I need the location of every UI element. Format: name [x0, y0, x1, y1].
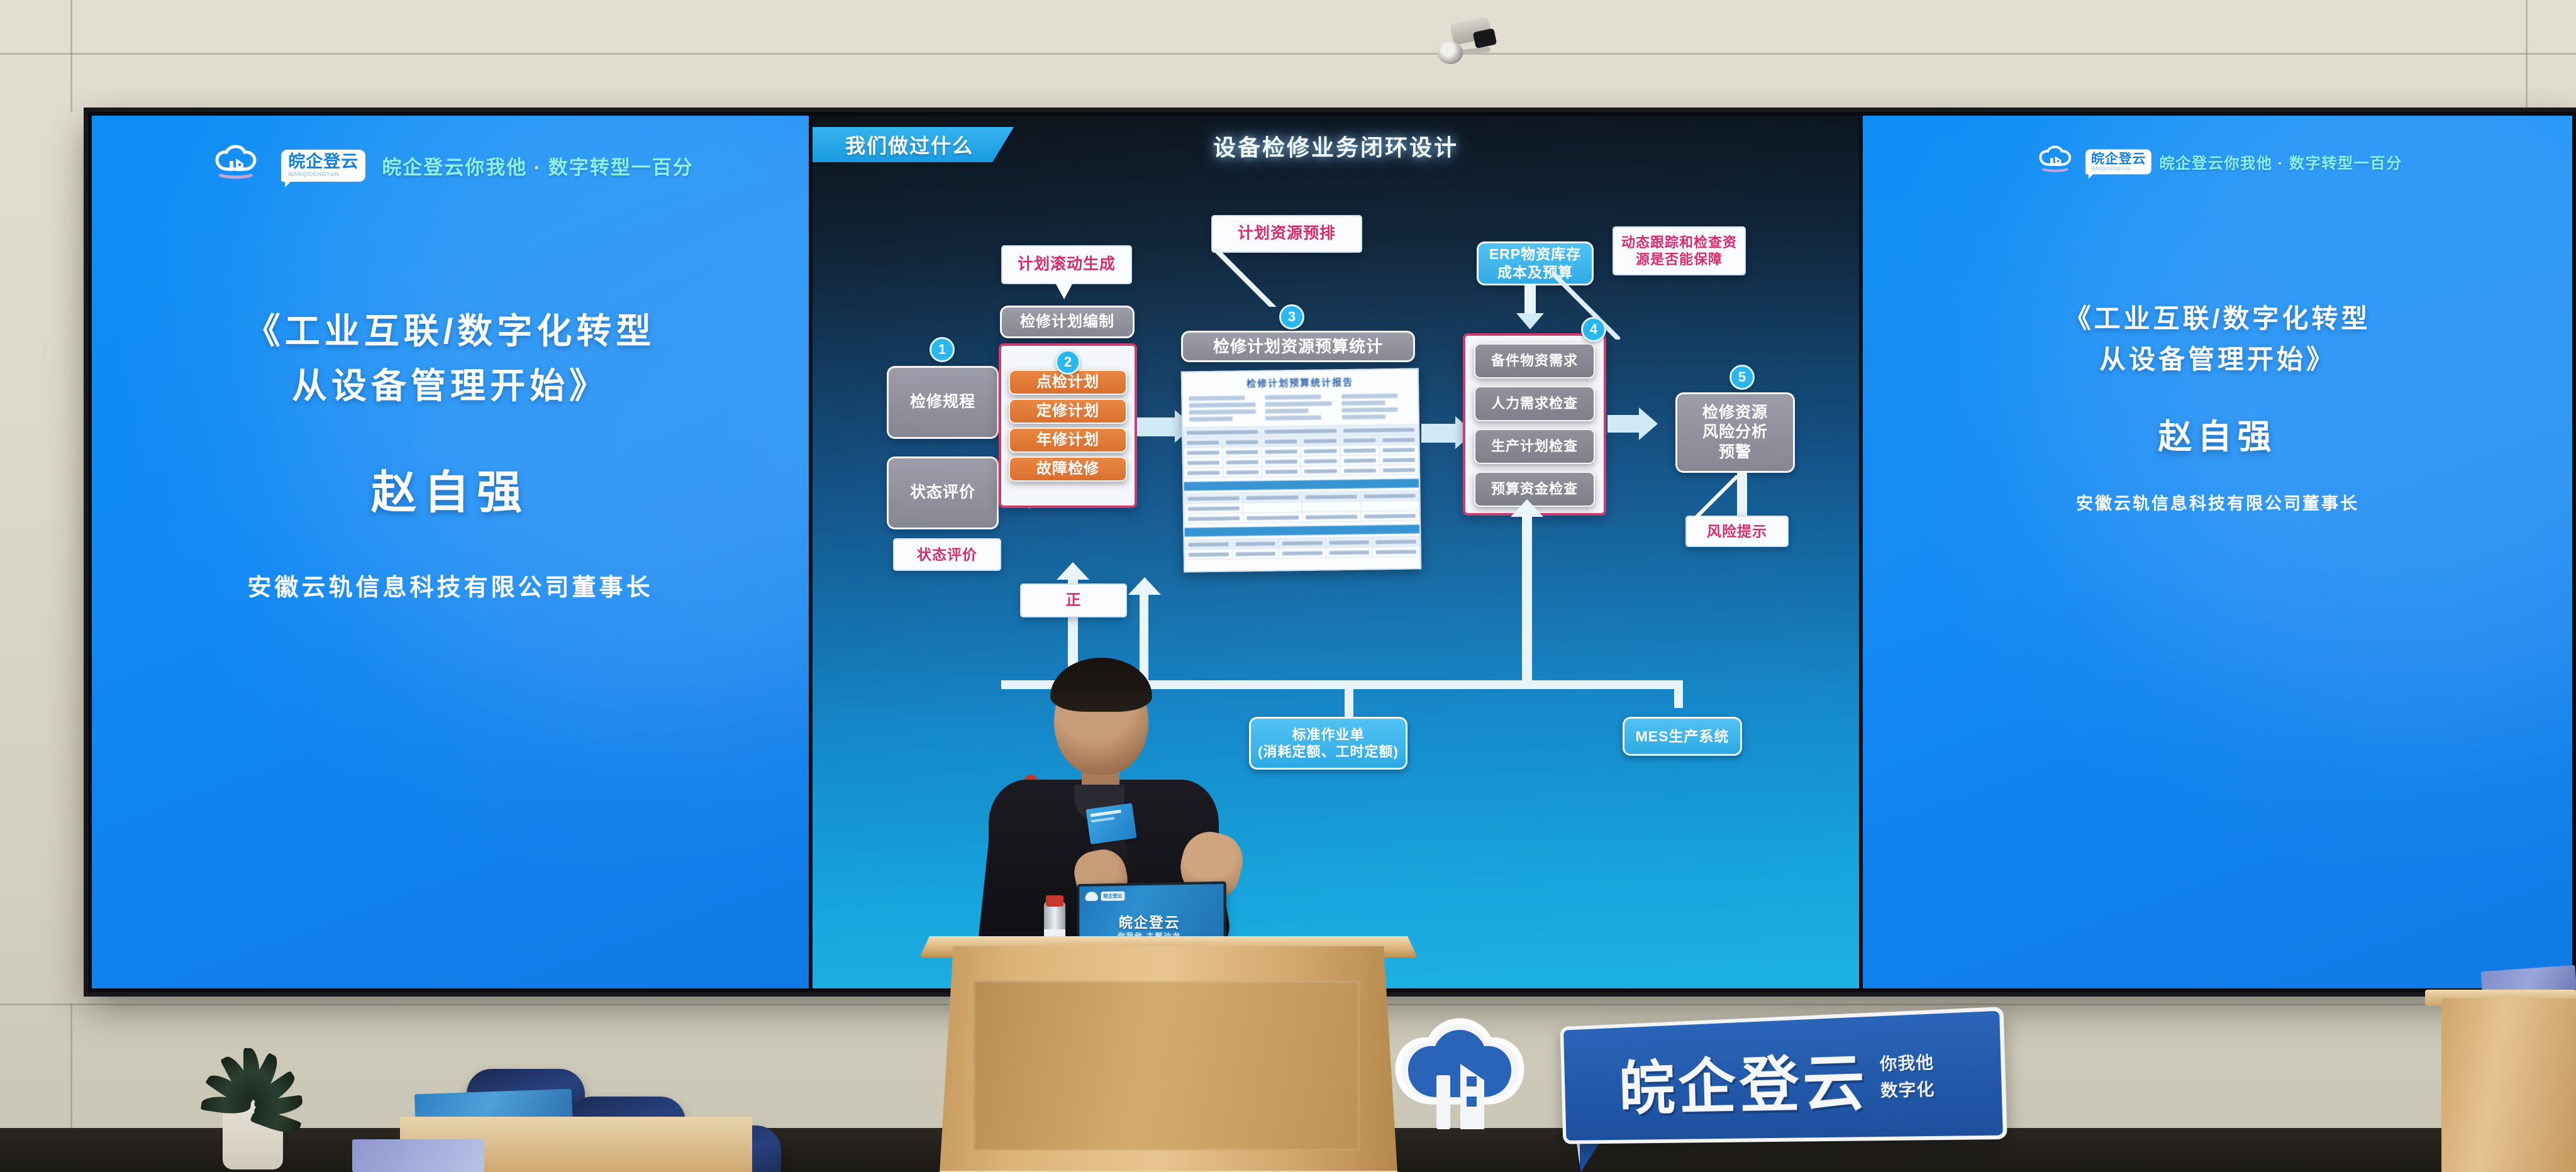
step-badge-1: 1 — [930, 337, 955, 362]
wall-seam — [70, 0, 72, 112]
slide-title-line1: 《工业互联/数字化转型 — [1863, 298, 2572, 339]
slide-title-line2: 从设备管理开始》 — [1863, 339, 2572, 380]
sign-main-text: 皖企登云 — [1618, 1032, 1870, 1125]
node-plan-compile[interactable]: 检修计划编制 — [1000, 306, 1135, 338]
sign-small-line1: 你我他 — [1879, 1049, 1934, 1075]
speaker-name: 赵自强 — [1863, 409, 2572, 458]
tagline-separator: · — [534, 157, 541, 179]
step-badge-4: 4 — [1581, 317, 1606, 342]
callout-rolling-plan: 计划滚动生成 — [1001, 245, 1132, 284]
laptop-title: 皖企登云 — [1079, 910, 1223, 932]
display-panel-center: 我们做过什么 设备检修业务闭环设计 1 检修规程 状态评价 状态评价 计划滚动生… — [813, 116, 1859, 988]
callout-risk-note: 风险提示 — [1685, 516, 1789, 547]
wall-seam — [0, 53, 2576, 55]
node-check-item-2[interactable]: 生产计划检查 — [1474, 429, 1595, 464]
speaker-org: 安徽云轨信息科技有限公司董事长 — [92, 568, 809, 602]
callout-state-eval: 状态评价 — [893, 538, 1001, 571]
logo-wordmark: 皖企登云 WANQIDENGYUN — [281, 150, 365, 182]
cloud-logo-icon — [1085, 892, 1098, 901]
node-state-eval[interactable]: 状态评价 — [887, 456, 999, 529]
tagline-part2: 数字转型一百分 — [548, 157, 694, 179]
tagline-part1: 皖企登云你我他 — [2159, 155, 2272, 172]
floor-standing-sign: 皖企登云 你我他 数字化 — [1381, 1005, 2058, 1172]
microphone-flag — [1085, 803, 1136, 844]
logo-subtext: WANQIDENGYUN — [288, 172, 358, 177]
logo-subtext: WANQIDENGYUN — [2091, 166, 2146, 170]
flow-arrow-head — [1639, 407, 1658, 440]
tagline-part1: 皖企登云你我他 — [382, 157, 527, 179]
sign-small-line2: 数字化 — [1880, 1076, 1935, 1102]
report-title: 检修计划预算统计报告 — [1182, 369, 1418, 394]
slide-heading: 设备检修业务闭环设计 — [813, 130, 1859, 162]
slide-tagline: 皖企登云你我他 · 数字转型一百分 — [2159, 150, 2402, 172]
flow-arrow-head — [1516, 313, 1544, 329]
budget-report-screenshot: 检修计划预算统计报告 — [1181, 368, 1421, 572]
logo-wordmark: 皖企登云 WANQIDENGYUN — [2085, 149, 2151, 174]
node-plan-budget-stats[interactable]: 检修计划资源预算统计 — [1181, 331, 1415, 362]
callout-pointer — [1055, 283, 1073, 299]
display-panel-left: 皖企登云 WANQIDENGYUN 皖企登云你我他 · 数字转型一百分 《工业互… — [92, 116, 809, 988]
feedback-connector — [1674, 680, 1683, 708]
feedback-arrow-head — [1057, 562, 1089, 580]
tagline-separator: · — [2278, 155, 2284, 172]
tagline-part2: 数字转型一百分 — [2289, 155, 2402, 172]
podium-front-panel — [974, 981, 1360, 1151]
node-inspection-rules[interactable]: 检修规程 — [887, 366, 999, 439]
slide-header-left: 皖企登云 WANQIDENGYUN 皖企登云你我他 · 数字转型一百分 — [92, 145, 809, 186]
speaker-org: 安徽云轨信息科技有限公司董事长 — [1863, 490, 2572, 514]
slide-header-right: 皖企登云 WANQIDENGYUN 皖企登云你我他 · 数字转型一百分 — [1941, 145, 2494, 177]
step-badge-5: 5 — [1729, 365, 1755, 390]
callout-resource-preplan: 计划资源预排 — [1211, 215, 1362, 253]
node-plan-item-2[interactable]: 年修计划 — [1009, 428, 1127, 453]
logo-text: 皖企登云 — [2091, 151, 2146, 165]
logo-text: 皖企登云 — [288, 152, 358, 171]
node-check-item-1[interactable]: 人力需求检查 — [1474, 386, 1595, 421]
right-desk — [2441, 998, 2576, 1172]
slide-title-line2: 从设备管理开始》 — [92, 359, 809, 414]
feedback-arrow-head — [1511, 499, 1543, 517]
cloud-logo-icon — [1381, 1011, 1538, 1168]
feedback-arrow-head — [1128, 577, 1161, 595]
slide-tagline: 皖企登云你我他 · 数字转型一百分 — [382, 152, 694, 180]
callout-correct-note: 正 — [1020, 583, 1127, 617]
security-camera-icon — [1426, 16, 1492, 64]
potted-plant — [195, 1006, 308, 1169]
flow-arrow — [1421, 424, 1455, 443]
flow-arrow — [1137, 417, 1175, 436]
node-std-work-order[interactable]: 标准作业单 (消耗定额、工时定额) — [1249, 717, 1407, 770]
callout-pointer — [1202, 249, 1291, 307]
sign-plate: 皖企登云 你我他 数字化 — [1560, 1007, 2007, 1144]
callout-pointer — [1693, 475, 1737, 519]
led-video-wall: 皖企登云 WANQIDENGYUN 皖企登云你我他 · 数字转型一百分 《工业互… — [88, 112, 2576, 992]
callout-dynamic-tracking: 动态跟踪和检查资 源是否能保障 — [1613, 226, 1746, 275]
monitor-screen — [352, 1139, 484, 1172]
laptop-logo-text: 皖企登云 — [1101, 892, 1125, 901]
display-panel-right: 皖企登云 WANQIDENGYUN 皖企登云你我他 · 数字转型一百分 《工业互… — [1863, 116, 2572, 988]
node-resource-risk[interactable]: 检修资源 风险分析 预警 — [1675, 392, 1795, 473]
bottle-cap — [1046, 895, 1063, 907]
wall-seam — [2526, 0, 2528, 112]
step-badge-2: 2 — [1055, 350, 1080, 375]
cloud-logo-icon — [207, 145, 265, 186]
flow-arrow — [1607, 415, 1639, 433]
feedback-connector — [1522, 516, 1532, 688]
node-plan-item-1[interactable]: 定修计划 — [1009, 399, 1127, 424]
cloud-logo-icon — [2033, 145, 2078, 177]
node-plan-item-3[interactable]: 故障检修 — [1009, 456, 1127, 482]
step-badge-3: 3 — [1279, 304, 1304, 329]
node-mes-system[interactable]: MES生产系统 — [1623, 717, 1742, 756]
node-check-item-0[interactable]: 备件物资需求 — [1474, 343, 1595, 379]
flow-connector — [1737, 473, 1747, 517]
slide-title-line1: 《工业互联/数字化转型 — [92, 304, 809, 359]
flow-connector — [1524, 285, 1536, 314]
speaker-name: 赵自强 — [92, 455, 809, 521]
